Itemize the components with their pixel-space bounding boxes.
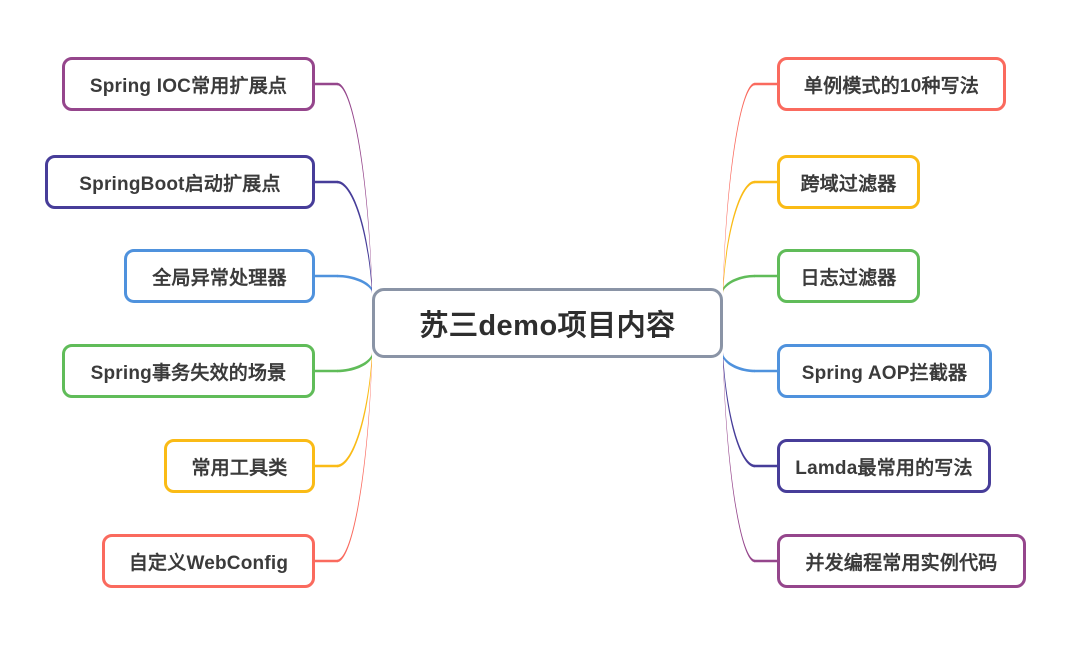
branch-node-label: 自定义WebConfig [129, 548, 288, 575]
branch-node-label: Spring事务失效的场景 [91, 358, 287, 385]
branch-node-label: SpringBoot启动扩展点 [79, 169, 280, 196]
branch-node-label: 全局异常处理器 [152, 263, 286, 290]
branch-connector [723, 352, 755, 467]
branch-node-label: 常用工具类 [191, 453, 287, 480]
branch-node-right-2[interactable]: 跨域过滤器 [777, 155, 920, 209]
branch-node-label: 并发编程常用实例代码 [805, 548, 997, 575]
center-node-label: 苏三demo项目内容 [419, 302, 675, 344]
branch-node-label: Spring AOP拦截器 [802, 358, 968, 385]
mindmap-canvas: Spring IOC常用扩展点 SpringBoot启动扩展点 全局异常处理器 … [0, 0, 1080, 645]
branch-node-label: 跨域过滤器 [800, 169, 896, 196]
center-node[interactable]: 苏三demo项目内容 [372, 288, 723, 358]
branch-node-right-5[interactable]: Lamda最常用的写法 [777, 439, 991, 493]
branch-node-label: 单例模式的10种写法 [804, 71, 979, 98]
branch-connector [723, 352, 755, 562]
branch-connector [337, 181, 372, 294]
branch-node-right-6[interactable]: 并发编程常用实例代码 [777, 534, 1026, 588]
branch-node-label: Spring IOC常用扩展点 [90, 71, 287, 98]
branch-connector [337, 275, 372, 292]
branch-node-left-2[interactable]: SpringBoot启动扩展点 [45, 155, 315, 209]
branch-node-left-3[interactable]: 全局异常处理器 [124, 249, 315, 303]
branch-node-left-1[interactable]: Spring IOC常用扩展点 [62, 57, 315, 111]
branch-connector [337, 352, 372, 562]
branch-connector [723, 83, 755, 294]
branch-node-left-6[interactable]: 自定义WebConfig [102, 534, 315, 588]
branch-connector [337, 83, 372, 294]
branch-node-right-3[interactable]: 日志过滤器 [777, 249, 920, 303]
branch-node-right-4[interactable]: Spring AOP拦截器 [777, 344, 992, 398]
branch-node-right-1[interactable]: 单例模式的10种写法 [777, 57, 1006, 111]
branch-connector [723, 275, 755, 292]
branch-node-label: 日志过滤器 [800, 263, 896, 290]
branch-connector [723, 181, 755, 294]
branch-connector [337, 352, 372, 467]
branch-node-label: Lamda最常用的写法 [795, 453, 972, 480]
branch-node-left-5[interactable]: 常用工具类 [164, 439, 315, 493]
branch-connector [723, 354, 755, 372]
branch-node-left-4[interactable]: Spring事务失效的场景 [62, 344, 315, 398]
branch-connector [337, 354, 372, 372]
